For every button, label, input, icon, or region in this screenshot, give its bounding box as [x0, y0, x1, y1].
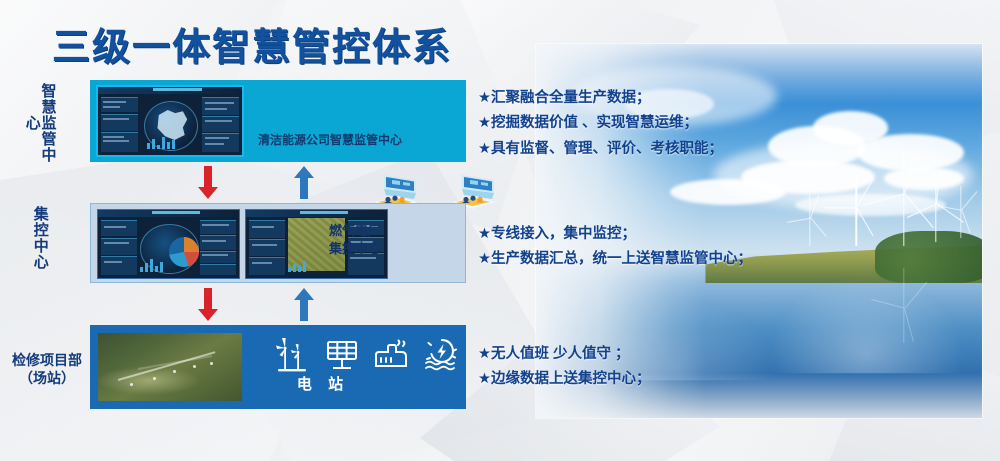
row-panel-supervision-center: [90, 80, 466, 162]
gas-plant-control-center-caption: 燃气电厂 集控中心: [300, 222, 410, 257]
row-label-maintenance-department: 检修项目部 （场站）: [4, 352, 90, 387]
wind-turbine-icon: [955, 186, 966, 238]
wind-turbine-icon: [893, 149, 915, 246]
row-label-line1: 检修项目部: [4, 352, 90, 370]
thermal-plant-icon: [372, 336, 412, 374]
control-dashboard-screenshot-a: [97, 209, 240, 279]
row-label-line2: （场站）: [4, 370, 90, 388]
wind-turbine-icon: [272, 336, 312, 374]
bullet-item: ★无人值班 少人值守 ；: [478, 342, 651, 367]
wind-turbine-icon: [848, 175, 864, 246]
bullet-item: ★挖掘数据价值 、实现智慧运维；: [478, 111, 723, 136]
down-arrow-1: [196, 166, 220, 200]
hydro-power-icon: [422, 336, 462, 374]
bullet-item: ★具有监督、管理、评价、考核职能；: [478, 137, 723, 162]
energy-type-icons: [272, 334, 462, 374]
station-caption: 电 站: [228, 375, 418, 395]
row-label-supervision-center: 智慧监管中心: [24, 78, 56, 168]
supervision-dashboard-screenshot: [96, 85, 244, 157]
bullets-supervision-center: ★汇聚融合全量生产数据； ★挖掘数据价值 、实现智慧运维； ★具有监督、管理、评…: [478, 86, 723, 162]
up-arrow-2: [292, 288, 316, 322]
caption-line1: 燃气电厂: [300, 222, 410, 240]
wind-turbine-icon: [804, 194, 816, 246]
bullet-item: ★专线接入，集中监控；: [478, 222, 752, 247]
turbine-reflection: [893, 268, 915, 343]
bullet-item: ★生产数据汇总，统一上送智慧监管中心；: [478, 247, 752, 272]
bullet-item: ★汇聚融合全量生产数据；: [478, 86, 723, 111]
supervision-center-caption: 清洁能源公司智慧监管中心: [230, 132, 430, 148]
bullets-centralized-control: ★专线接入，集中监控； ★生产数据汇总，统一上送智慧监管中心；: [478, 222, 752, 273]
bullet-item: ★边缘数据上送集控中心；: [478, 367, 651, 392]
row-label-centralized-control: 集控中心: [32, 205, 48, 270]
bullets-station: ★无人值班 少人值守 ； ★边缘数据上送集控中心；: [478, 342, 651, 393]
cloud-reflection: [768, 276, 964, 373]
slide-canvas: 三级一体智慧管控体系 智慧监管中心 集控中心 检修项目部 （场站）: [0, 0, 1000, 461]
down-arrow-2: [196, 288, 220, 322]
terrain-satellite-image: [96, 331, 244, 403]
caption-line2: 集控中心: [300, 240, 410, 258]
up-arrow-1: [292, 166, 316, 200]
page-title: 三级一体智慧管控体系: [52, 16, 452, 71]
solar-panel-icon: [322, 336, 362, 374]
